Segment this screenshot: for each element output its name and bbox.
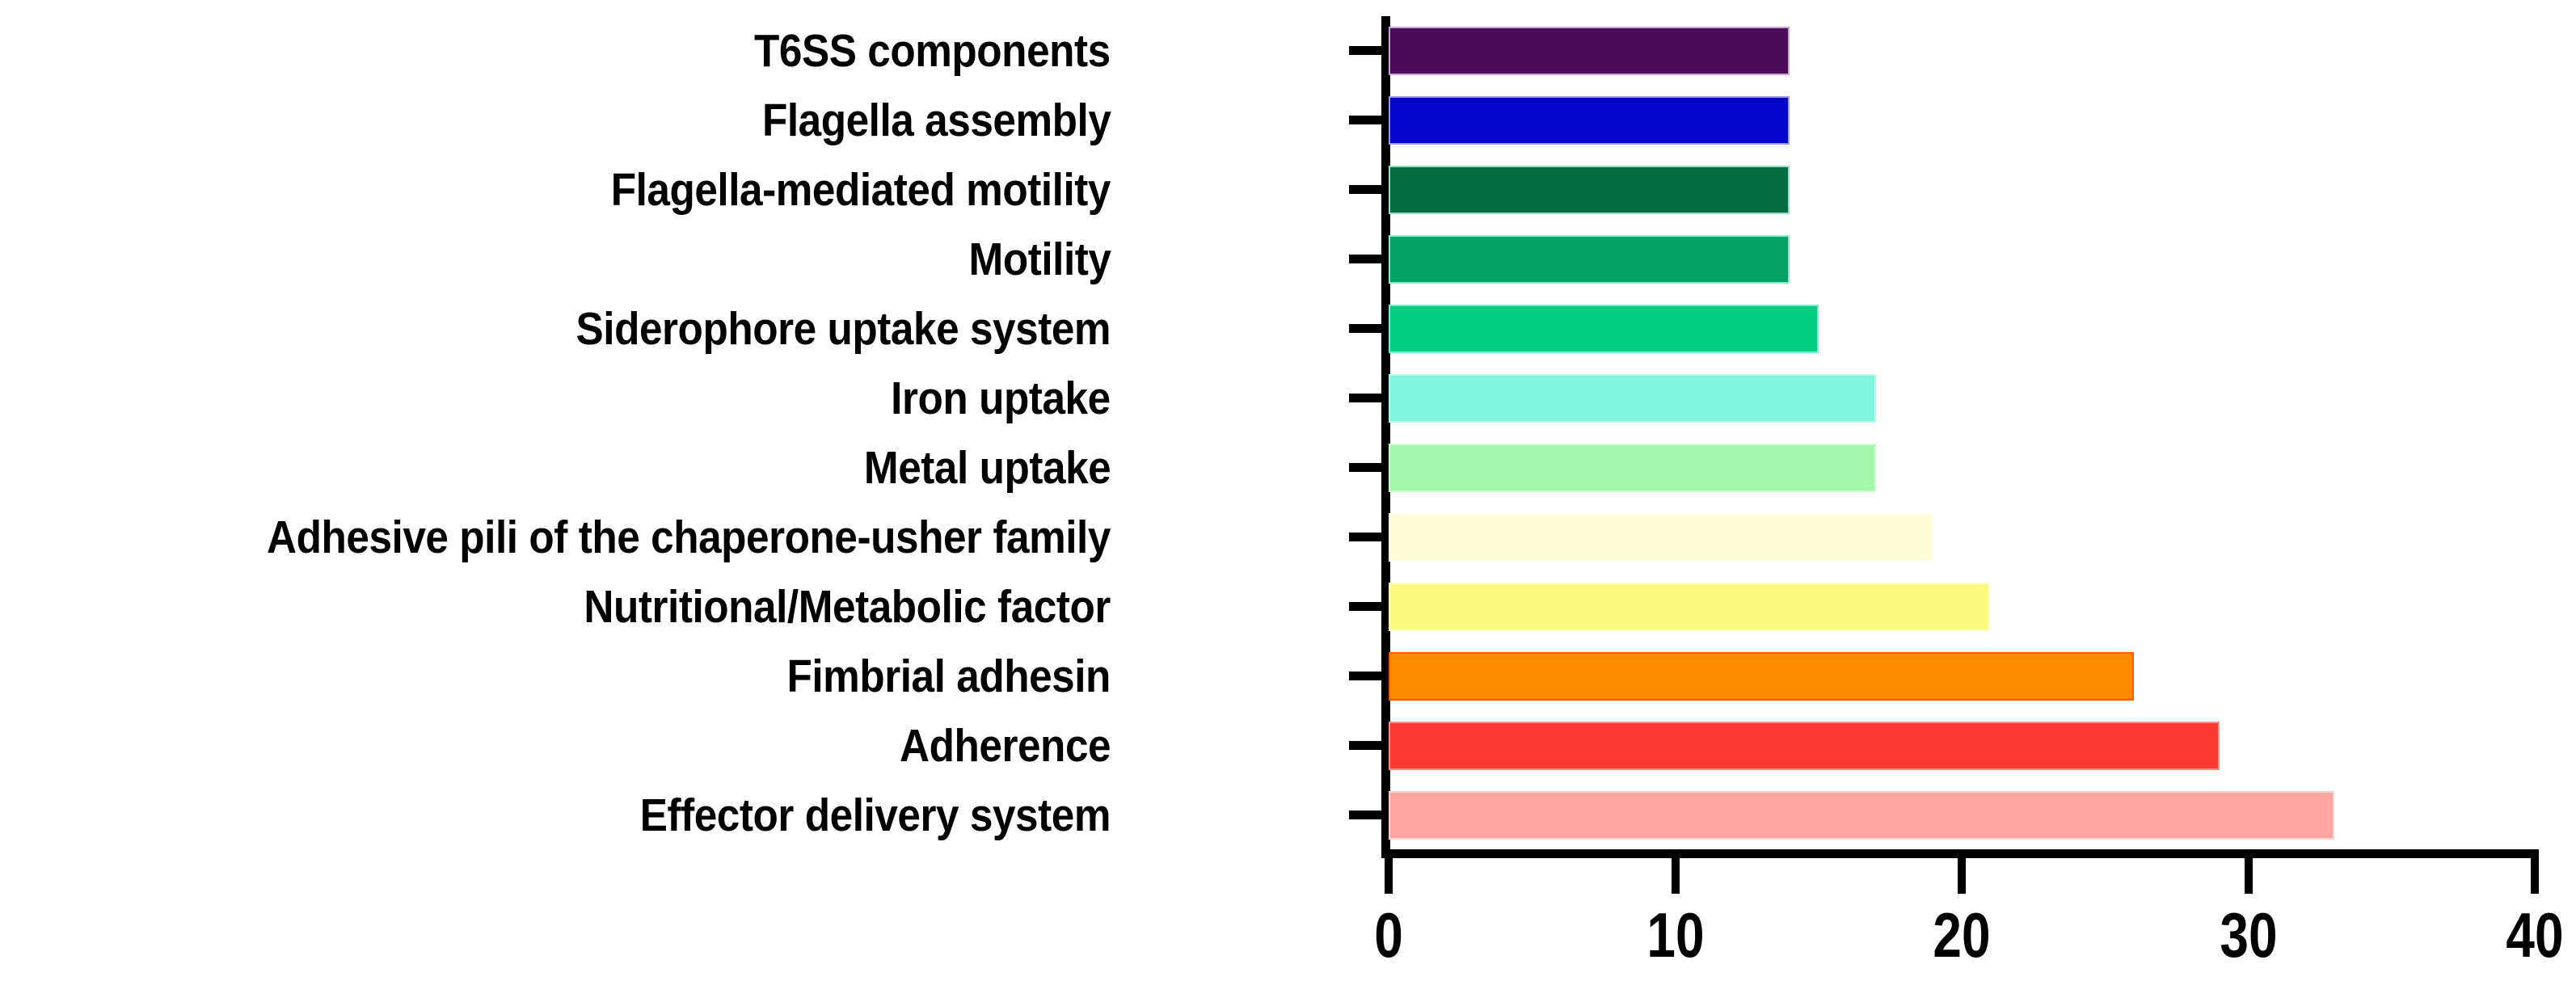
x-axis-tick-label: 30	[2182, 899, 2315, 972]
bar-row: Adherence	[0, 711, 2576, 781]
x-axis-tick	[1672, 857, 1680, 894]
x-axis-tick	[1385, 857, 1393, 894]
bar-row: Fimbrial adhesin	[0, 642, 2576, 711]
y-axis-tick	[1349, 602, 1388, 611]
bar-row: Flagella-mediated motility	[0, 155, 2576, 225]
category-label: Adherence	[900, 711, 1111, 781]
bar	[1389, 27, 1790, 75]
bar-row: Flagella assembly	[0, 86, 2576, 155]
bar-row: Motility	[0, 225, 2576, 294]
y-axis-tick	[1349, 116, 1388, 124]
category-label: Nutritional/Metabolic factor	[584, 572, 1111, 642]
x-axis-tick-label: 20	[1895, 899, 2028, 972]
x-axis-tick	[2245, 857, 2253, 894]
category-label: Iron uptake	[891, 364, 1111, 433]
x-axis-tick	[2531, 857, 2539, 894]
bar-row: Adhesive pili of the chaperone-usher fam…	[0, 503, 2576, 572]
y-axis-tick	[1349, 533, 1388, 541]
y-axis-tick	[1349, 394, 1388, 402]
bar	[1389, 96, 1790, 145]
category-label: Motility	[968, 225, 1111, 294]
x-axis-tick	[1958, 857, 1966, 894]
bar	[1389, 722, 2220, 770]
category-label: T6SS components	[754, 16, 1111, 86]
category-label: Siderophore uptake system	[575, 294, 1111, 364]
y-axis-tick	[1349, 255, 1388, 263]
y-axis-tick	[1349, 741, 1388, 750]
x-axis-tick-label: 0	[1322, 899, 1455, 972]
bar-row: T6SS components	[0, 16, 2576, 86]
y-axis-tick	[1349, 672, 1388, 680]
y-axis-tick	[1349, 463, 1388, 472]
plot-area: T6SS componentsFlagella assemblyFlagella…	[0, 0, 2576, 981]
bar	[1389, 166, 1790, 214]
x-axis-tick-label: 40	[2468, 899, 2576, 972]
bar-row: Iron uptake	[0, 364, 2576, 433]
y-axis-tick	[1349, 185, 1388, 194]
y-axis-tick	[1349, 810, 1388, 819]
bar	[1389, 513, 1933, 562]
category-label: Effector delivery system	[640, 781, 1111, 850]
bar	[1389, 791, 2334, 840]
bar	[1389, 235, 1790, 284]
bar-row: Siderophore uptake system	[0, 294, 2576, 364]
bar-row: Metal uptake	[0, 433, 2576, 503]
y-axis-tick	[1349, 46, 1388, 55]
bar	[1389, 374, 1876, 423]
category-label: Flagella-mediated motility	[611, 155, 1111, 225]
bar	[1389, 305, 1819, 353]
category-label: Adhesive pili of the chaperone-usher fam…	[267, 503, 1111, 572]
category-label: Metal uptake	[864, 433, 1111, 503]
bar-chart: T6SS componentsFlagella assemblyFlagella…	[0, 0, 2576, 981]
bar-row: Nutritional/Metabolic factor	[0, 572, 2576, 642]
y-axis-tick	[1349, 324, 1388, 333]
bar	[1389, 583, 1990, 631]
category-label: Flagella assembly	[762, 86, 1111, 155]
bar-row: Effector delivery system	[0, 781, 2576, 850]
category-label: Fimbrial adhesin	[787, 642, 1111, 711]
x-axis-tick-label: 10	[1609, 899, 1742, 972]
bar	[1389, 652, 2134, 701]
bar	[1389, 444, 1876, 492]
